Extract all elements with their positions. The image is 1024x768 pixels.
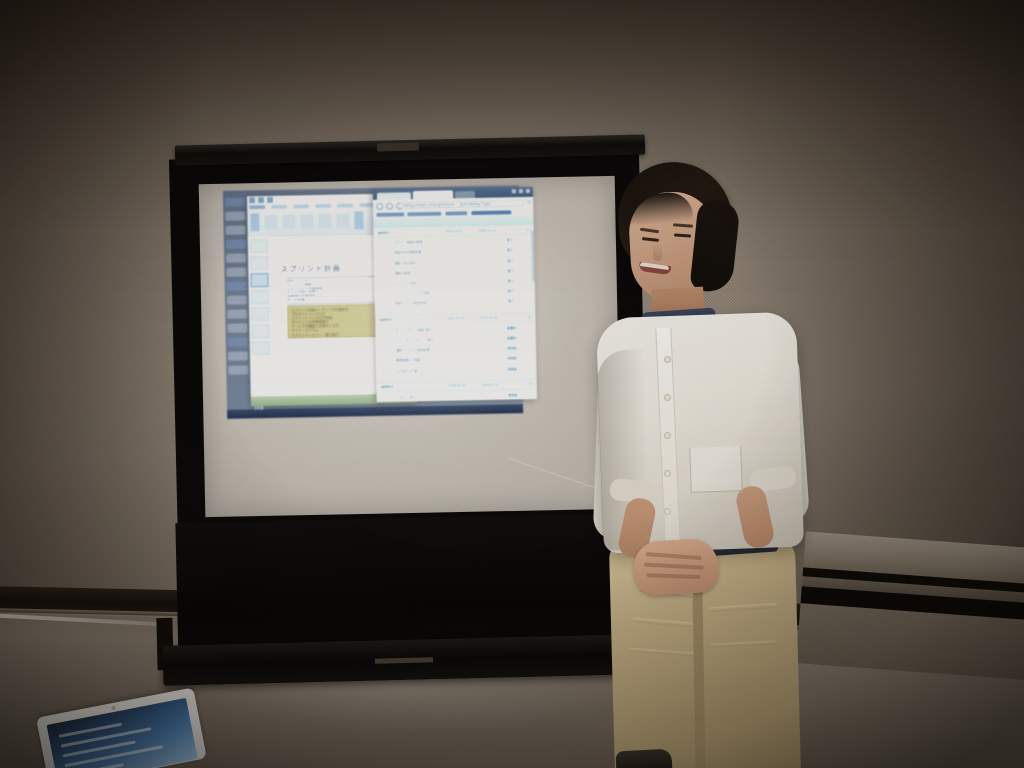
shirt-button [664,394,671,401]
issue-points: 3 [523,356,532,360]
shirt-button [664,356,671,363]
sprint-start: 2018-10-01 [433,229,463,234]
table-row[interactable]: #1027 単体テストの追加作成 完了 3 [375,296,535,309]
nose [652,243,662,262]
issue-status: 完了 [502,237,518,242]
ribbon-tab-design[interactable] [315,204,331,208]
slide-title: スプリント計画 [280,263,341,275]
desktop-icon[interactable] [227,295,247,304]
desktop-icon[interactable] [226,267,246,276]
forward-icon[interactable] [386,203,393,210]
slide-thumbnail-pane[interactable] [248,236,274,396]
issue-status: 未対応 [504,356,520,361]
issue-summary: 認証APIの接続処理 [394,248,499,255]
bookmark-item[interactable] [445,211,467,215]
slide-thumbnail[interactable] [250,256,268,270]
issue-status: 完了 [503,278,519,283]
issue-summary: 通知メール の 送信処理 [396,346,501,353]
issue-points: 5 [523,335,532,339]
issue-points: 2 [522,279,531,283]
slide-thumbnail-selected[interactable] [250,273,268,287]
shirt-button [664,470,671,477]
screen-text-line [61,727,152,747]
desktop-icon[interactable] [227,309,247,318]
back-icon[interactable] [376,203,383,210]
issue-status: 完了 [502,258,518,263]
issue-status: 未対応 [504,345,520,350]
issue-id: #1026 [379,291,392,295]
address-bar[interactable]: backlog.example.com/projects/scrum — Spr… [399,200,524,209]
sprint-end: 2018-11-11 [469,383,499,388]
desktop-icon[interactable] [227,323,247,332]
status-bar-language: 日本語 [251,404,267,411]
drawing-group[interactable] [300,214,313,228]
ribbon-tab-transitions[interactable] [337,203,353,207]
close-icon[interactable] [526,189,530,193]
shirt-button [664,508,671,515]
issue-summary: ログイン画面の実装 [394,238,499,245]
desktop-icon[interactable] [228,365,248,374]
issue-status: 完了 [502,268,518,273]
desktop-icon[interactable] [226,253,246,262]
issue-summary: ダッシュボード画面 設計 [395,325,500,332]
issue-points: 3 [522,299,531,303]
issue-points: 3 [523,346,532,350]
shapes-gallery[interactable] [354,211,363,229]
issue-id: #1025 [379,281,392,285]
bookmark-item[interactable] [376,212,404,217]
ribbon-tab-file[interactable] [249,205,265,209]
issue-status: 処理中 [504,335,520,340]
presenter [590,150,840,768]
slide-thumbnail[interactable] [251,324,269,338]
editing-group[interactable] [336,213,349,227]
font-group[interactable] [264,215,277,229]
ribbon-tab-home[interactable] [271,205,287,209]
slide-thumbnail[interactable] [250,239,268,253]
issue-points: 2 [523,366,532,370]
finger [646,573,700,579]
issue-status: 処理中 [503,325,519,330]
photo-scene: スプリント計画 2018/xx/xx 目的・ゴール スプリント期間 ベロシティと… [0,0,1024,768]
issue-status: 完了 [503,288,519,293]
desktop-icon[interactable] [228,351,248,360]
issue-summary: 単体テストの追加作成 [395,299,500,306]
issue-status: 未対応 [505,392,521,397]
desktop-icon[interactable] [225,197,245,206]
issue-points: 5 [524,392,533,396]
projector-screen-handle[interactable] [377,143,419,152]
sprint-start: 2018-10-15 [434,316,464,321]
window-controls[interactable] [512,189,530,193]
issue-points: 5 [522,325,531,329]
issue-status: 完了 [502,248,518,253]
issue-id: #1035 [380,369,393,373]
paste-button[interactable] [250,213,259,231]
projector-screen-unit: スプリント計画 2018/xx/xx 目的・ゴール スプリント期間 ベロシティと… [155,140,630,715]
issue-summary: 課題一覧の表示 [394,258,499,265]
projected-desktop: スプリント計画 2018/xx/xx 目的・ゴール スプリント期間 ベロシティと… [223,185,523,419]
save-icon[interactable] [249,197,255,203]
sprint-points: 21 [526,228,530,232]
desktop-icon[interactable] [226,239,246,248]
browser-window[interactable]: backlog.example.com/projects/scrum — Spr… [373,187,537,402]
desktop-icon[interactable] [226,225,246,234]
issue-id: #1027 [379,302,392,306]
issue-id: #1024 [378,271,391,275]
sprint-end: 2018-10-28 [467,316,497,321]
issue-summary: レポート出力 [397,392,502,399]
desktop-icon[interactable] [228,337,248,346]
redo-icon[interactable] [267,197,273,203]
finger [645,552,701,560]
issue-points: 3 [521,258,530,262]
issue-points: 2 [521,268,530,272]
slides-group[interactable] [318,214,331,228]
issue-points: 3 [522,289,531,293]
issue-id: #1032 [380,338,393,342]
issue-status: 完了 [503,299,519,304]
issue-id: #1041 [381,395,394,399]
finger [644,563,704,570]
issue-summary: ページング対応 [395,279,500,286]
desktop-icon[interactable] [225,211,245,220]
undo-icon[interactable] [258,197,264,203]
issue-id: #1022 [378,251,391,255]
desktop-icon[interactable] [227,281,247,290]
issue-points: 3 [521,238,530,242]
sprint-points: 18 [527,315,531,319]
bookmark-item[interactable] [407,211,441,216]
shoe [615,749,672,768]
issue-summary: 課題の検索フォーム [394,268,499,275]
bookmark-star-icon[interactable] [527,200,531,204]
issue-summary: エラーハンドリング改善 [395,289,500,296]
sprint-points: 13 [529,382,533,386]
issue-id: #1034 [380,358,393,362]
issue-status: 未対応 [504,366,520,371]
bookmark-item[interactable] [471,210,511,215]
clasped-hands [633,538,720,596]
slide-thumbnail[interactable] [252,341,270,355]
issue-id: #1031 [380,328,393,332]
chest-pocket [689,446,743,493]
sprint-name: sprint 3 [381,384,433,389]
issue-points: 5 [521,248,530,252]
issue-id: #1033 [380,348,393,352]
sprint-name: sprint 1 [378,229,430,234]
issue-summary: 権限管理 の 見直し [396,356,501,363]
table-row[interactable]: #1035 ログ出力 の 統一 未対応 2 [376,363,536,376]
slide-thumbnail[interactable] [251,290,269,304]
sprint-start: 2018-10-29 [436,383,466,388]
slide-thumbnail[interactable] [251,307,269,321]
ribbon-command-groups[interactable] [250,211,363,231]
issue-summary: バーンダウンチャート表示 [396,336,501,343]
minimize-icon[interactable] [512,189,516,193]
sprint-name: sprint 2 [379,317,431,322]
maximize-icon[interactable] [519,189,523,193]
ribbon-tab-insert[interactable] [293,204,309,208]
paragraph-group[interactable] [282,214,295,228]
issue-summary: ログ出力 の 統一 [396,366,501,373]
backlog-table[interactable]: sprint 1 2018-10-01 2018-10-14 21 #1021 … [374,224,537,402]
issue-id: #1021 [378,240,391,244]
hair-side [689,198,740,294]
issue-id: #1023 [378,261,391,265]
sprint-end: 2018-10-14 [466,228,496,233]
quick-access-toolbar[interactable] [249,197,273,203]
shirt-button [664,432,671,439]
